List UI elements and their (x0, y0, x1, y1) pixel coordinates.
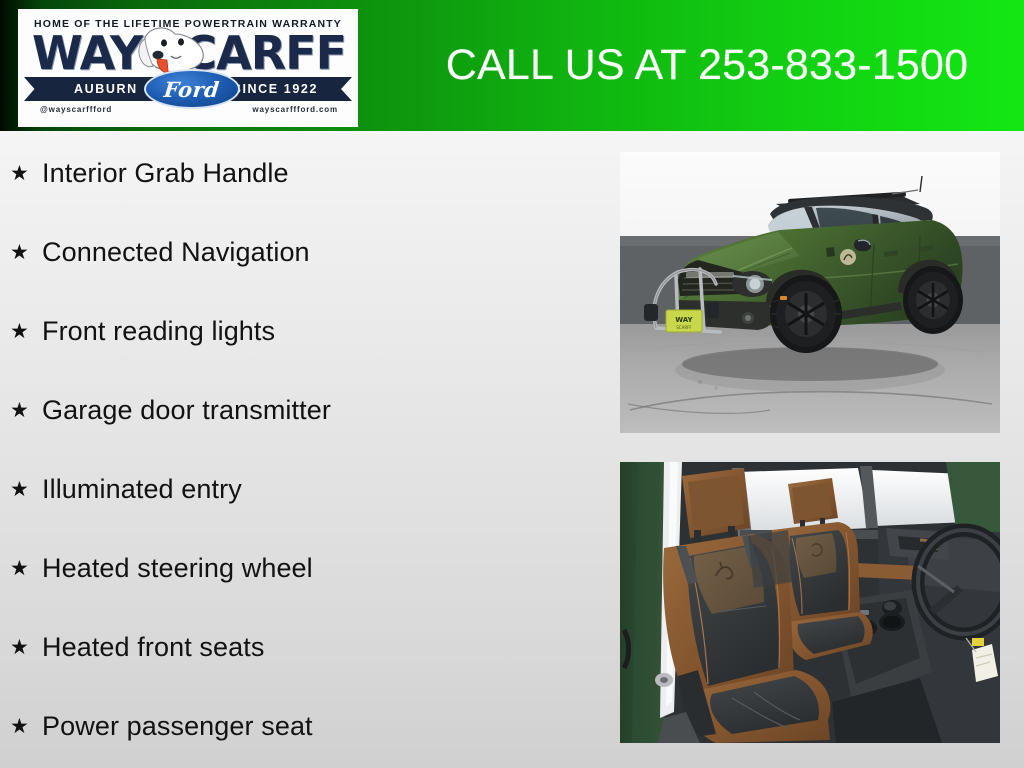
feature-item: ★ Power passenger seat (10, 706, 313, 746)
feature-label: Illuminated entry (42, 474, 242, 505)
dealer-logo: HOME OF THE LIFETIME POWERTRAIN WARRANTY… (18, 9, 358, 127)
ford-wordmark: Ford (163, 77, 221, 102)
svg-text:SCARFF: SCARFF (676, 325, 692, 330)
slide-canvas: CALL US AT 253-833-1500 HOME OF THE LIFE… (0, 0, 1024, 768)
feature-item: ★ Illuminated entry (10, 469, 242, 509)
svg-text:WAY: WAY (675, 316, 693, 324)
feature-item: ★ Interior Grab Handle (10, 153, 289, 193)
star-bullet-icon: ★ (10, 321, 42, 342)
feature-label: Heated steering wheel (42, 553, 313, 584)
star-bullet-icon: ★ (10, 242, 42, 263)
feature-label: Connected Navigation (42, 237, 310, 268)
phone-number-text: CALL US AT 253-833-1500 (400, 0, 1014, 131)
star-bullet-icon: ★ (10, 163, 42, 184)
ford-oval-logo: Ford (144, 69, 240, 109)
vehicle-interior-photo[interactable] (620, 462, 1000, 743)
feature-item: ★ Heated steering wheel (10, 548, 313, 588)
feature-item: ★ Garage door transmitter (10, 390, 331, 430)
feature-label: Heated front seats (42, 632, 264, 663)
feature-label: Interior Grab Handle (42, 158, 289, 189)
feature-label: Power passenger seat (42, 711, 313, 742)
star-bullet-icon: ★ (10, 400, 42, 421)
star-bullet-icon: ★ (10, 479, 42, 500)
feature-item: ★ Front reading lights (10, 311, 275, 351)
vehicle-exterior-photo[interactable]: WAY SCARFF (620, 152, 1000, 433)
star-bullet-icon: ★ (10, 716, 42, 737)
feature-item: ★ Heated front seats (10, 627, 264, 667)
ribbon-label-auburn: AUBURN (74, 82, 138, 96)
logo-social-handle: @wayscarffford (40, 105, 112, 114)
star-bullet-icon: ★ (10, 637, 42, 658)
feature-list: ★ Interior Grab Handle ★ Connected Navig… (0, 140, 600, 760)
feature-label: Front reading lights (42, 316, 275, 347)
logo-website: wayscarffford.com (252, 105, 338, 114)
star-bullet-icon: ★ (10, 558, 42, 579)
feature-item: ★ Connected Navigation (10, 232, 310, 272)
logo-word-way: WAY (32, 30, 142, 76)
ribbon-label-since: SINCE 1922 (233, 82, 318, 96)
feature-label: Garage door transmitter (42, 395, 331, 426)
